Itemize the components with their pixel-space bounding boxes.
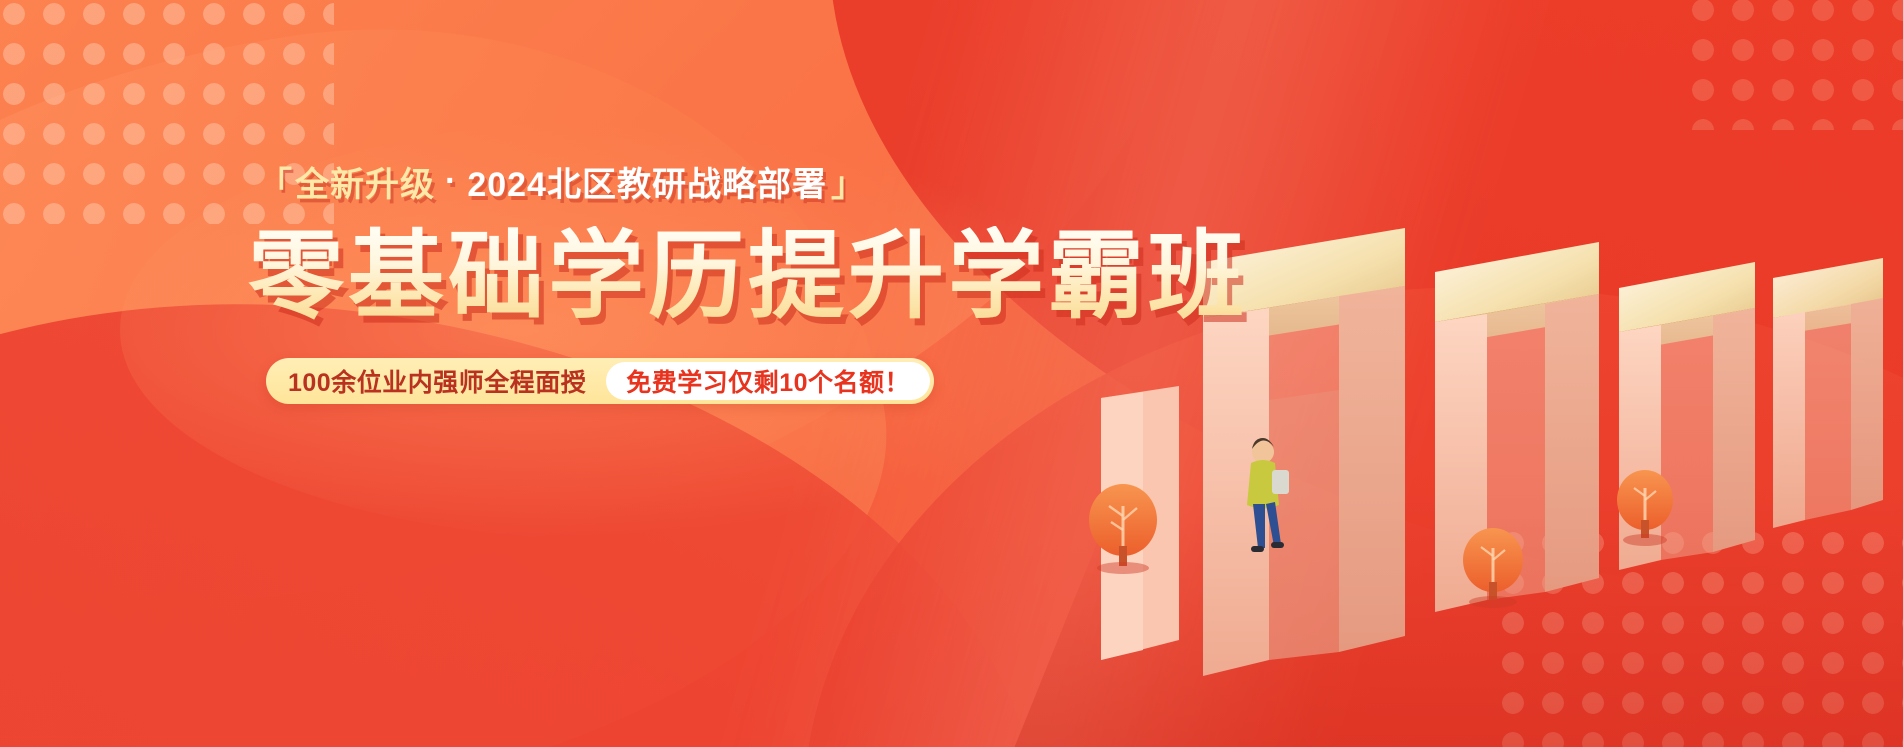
bracket-close-icon: 」 bbox=[831, 157, 866, 206]
illustration bbox=[1083, 0, 1903, 747]
slots-badge-text: 免费学习仅剩10个名额！ bbox=[626, 363, 910, 399]
subtitle-rest: 2024北区教研战略部署 bbox=[467, 157, 827, 206]
subtitle-separator: · bbox=[445, 162, 457, 201]
feature-pill: 100余位业内强师全程面授 免费学习仅剩10个名额！ bbox=[266, 358, 934, 404]
gate-4 bbox=[1773, 258, 1883, 528]
bracket-open-icon: 「 bbox=[258, 157, 293, 206]
feature-pill-text: 100余位业内强师全程面授 bbox=[288, 363, 606, 399]
banner-subtitle: 「 全新升级 · 2024北区教研战略部署 」 bbox=[258, 157, 866, 206]
text-content: 「 全新升级 · 2024北区教研战略部署 」 零基础学历提升学霸班 100余位… bbox=[0, 0, 1100, 747]
isometric-gates bbox=[1083, 0, 1903, 747]
subtitle-highlight: 全新升级 bbox=[295, 157, 435, 206]
banner-title: 零基础学历提升学霸班 bbox=[248, 226, 1248, 328]
promo-banner: 「 全新升级 · 2024北区教研战略部署 」 零基础学历提升学霸班 100余位… bbox=[0, 0, 1903, 747]
slots-badge[interactable]: 免费学习仅剩10个名额！ bbox=[606, 362, 930, 400]
